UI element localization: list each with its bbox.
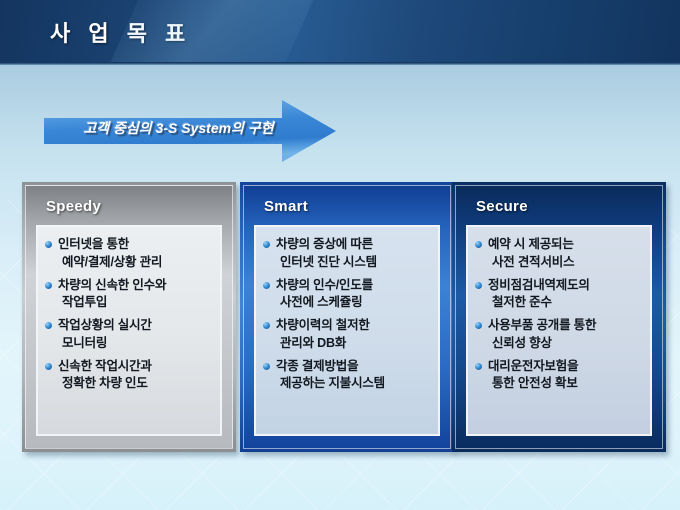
bullet-icon — [263, 241, 270, 248]
list-item: 각종 결제방법을 제공하는 지불시스템 — [263, 358, 433, 394]
list-item-line2: 철저한 준수 — [488, 294, 645, 312]
list-item-line2: 제공하는 지불시스템 — [276, 375, 433, 393]
panel-smart-inner: Smart 차량의 증상에 따른 인터넷 진단 시스템 차량의 인수/인도를 사… — [243, 185, 451, 449]
list-item: 대리운전자보험을 통한 안전성 확보 — [475, 358, 645, 394]
panel-secure-inner: Secure 예약 시 제공되는 사전 견적서비스 정비점검내역제도의 철저한 … — [455, 185, 663, 449]
page-title: 사 업 목 표 — [50, 16, 191, 48]
list-item: 작업상황의 실시간 모니터링 — [45, 317, 215, 353]
list-item-line2: 신뢰성 향상 — [488, 335, 645, 353]
slide-canvas: 사 업 목 표 고객 중심의 3-S System의 구현 Speedy — [0, 0, 680, 510]
list-item: 차량의 인수/인도를 사전에 스케쥴링 — [263, 277, 433, 313]
bullet-icon — [45, 363, 52, 370]
list-item: 차량이력의 철저한 관리와 DB화 — [263, 317, 433, 353]
list-item-line1: 정비점검내역제도의 — [488, 278, 590, 292]
list-item-line2: 예약/결제/상황 관리 — [58, 254, 215, 272]
list-item: 차량의 신속한 인수와 작업투입 — [45, 277, 215, 313]
bullet-icon — [45, 282, 52, 289]
bullet-icon — [263, 282, 270, 289]
bullet-icon — [475, 241, 482, 248]
panel-secure-title: Secure — [456, 186, 662, 225]
list-item: 신속한 작업시간과 정확한 차량 인도 — [45, 358, 215, 394]
list-item: 정비점검내역제도의 철저한 준수 — [475, 277, 645, 313]
list-item-line2: 인터넷 진단 시스템 — [276, 254, 433, 272]
list-item-line2: 통한 안전성 확보 — [488, 375, 645, 393]
list-item-line1: 예약 시 제공되는 — [488, 237, 574, 251]
panel-smart-title: Smart — [244, 186, 450, 225]
panel-secure-body: 예약 시 제공되는 사전 견적서비스 정비점검내역제도의 철저한 준수 사용부품… — [466, 225, 652, 436]
list-item-line2: 작업투입 — [58, 294, 215, 312]
bullet-icon — [475, 322, 482, 329]
slide-title-bar: 사 업 목 표 — [0, 0, 680, 62]
panel-speedy: Speedy 인터넷을 통한 예약/결제/상황 관리 차량의 신속한 인수와 작… — [22, 182, 236, 452]
list-item-line2: 사전 견적서비스 — [488, 254, 645, 272]
list-item: 인터넷을 통한 예약/결제/상황 관리 — [45, 236, 215, 272]
panel-speedy-list: 인터넷을 통한 예약/결제/상황 관리 차량의 신속한 인수와 작업투입 작업상… — [45, 236, 215, 393]
list-item-line1: 차량의 신속한 인수와 — [58, 278, 166, 292]
panel-secure: Secure 예약 시 제공되는 사전 견적서비스 정비점검내역제도의 철저한 … — [452, 182, 666, 452]
panel-speedy-inner: Speedy 인터넷을 통한 예약/결제/상황 관리 차량의 신속한 인수와 작… — [25, 185, 233, 449]
panel-smart-body: 차량의 증상에 따른 인터넷 진단 시스템 차량의 인수/인도를 사전에 스케쥴… — [254, 225, 440, 436]
panel-speedy-title: Speedy — [26, 186, 232, 225]
list-item: 예약 시 제공되는 사전 견적서비스 — [475, 236, 645, 272]
bullet-icon — [475, 363, 482, 370]
panel-speedy-body: 인터넷을 통한 예약/결제/상황 관리 차량의 신속한 인수와 작업투입 작업상… — [36, 225, 222, 436]
list-item-line2: 사전에 스케쥴링 — [276, 294, 433, 312]
list-item-line1: 대리운전자보험을 — [488, 359, 578, 373]
arrow-banner: 고객 중심의 3-S System의 구현 — [40, 98, 340, 164]
list-item-line1: 차량의 증상에 따른 — [276, 237, 373, 251]
list-item-line2: 정확한 차량 인도 — [58, 375, 215, 393]
title-divider — [0, 62, 680, 65]
arrow-banner-label: 고객 중심의 3-S System의 구현 — [56, 118, 301, 138]
list-item: 사용부품 공개를 통한 신뢰성 향상 — [475, 317, 645, 353]
bullet-icon — [45, 322, 52, 329]
bullet-icon — [263, 363, 270, 370]
panel-smart: Smart 차량의 증상에 따른 인터넷 진단 시스템 차량의 인수/인도를 사… — [240, 182, 454, 452]
list-item-line2: 모니터링 — [58, 335, 215, 353]
list-item-line1: 사용부품 공개를 통한 — [488, 318, 596, 332]
list-item-line1: 각종 결제방법을 — [276, 359, 358, 373]
panel-smart-list: 차량의 증상에 따른 인터넷 진단 시스템 차량의 인수/인도를 사전에 스케쥴… — [263, 236, 433, 393]
list-item: 차량의 증상에 따른 인터넷 진단 시스템 — [263, 236, 433, 272]
bullet-icon — [45, 241, 52, 248]
list-item-line1: 차량의 인수/인도를 — [276, 278, 373, 292]
list-item-line1: 차량이력의 철저한 — [276, 318, 370, 332]
list-item-line2: 관리와 DB화 — [276, 335, 433, 353]
bullet-icon — [263, 322, 270, 329]
panel-secure-list: 예약 시 제공되는 사전 견적서비스 정비점검내역제도의 철저한 준수 사용부품… — [475, 236, 645, 393]
list-item-line1: 작업상황의 실시간 — [58, 318, 152, 332]
bullet-icon — [475, 282, 482, 289]
list-item-line1: 신속한 작업시간과 — [58, 359, 152, 373]
list-item-line1: 인터넷을 통한 — [58, 237, 129, 251]
